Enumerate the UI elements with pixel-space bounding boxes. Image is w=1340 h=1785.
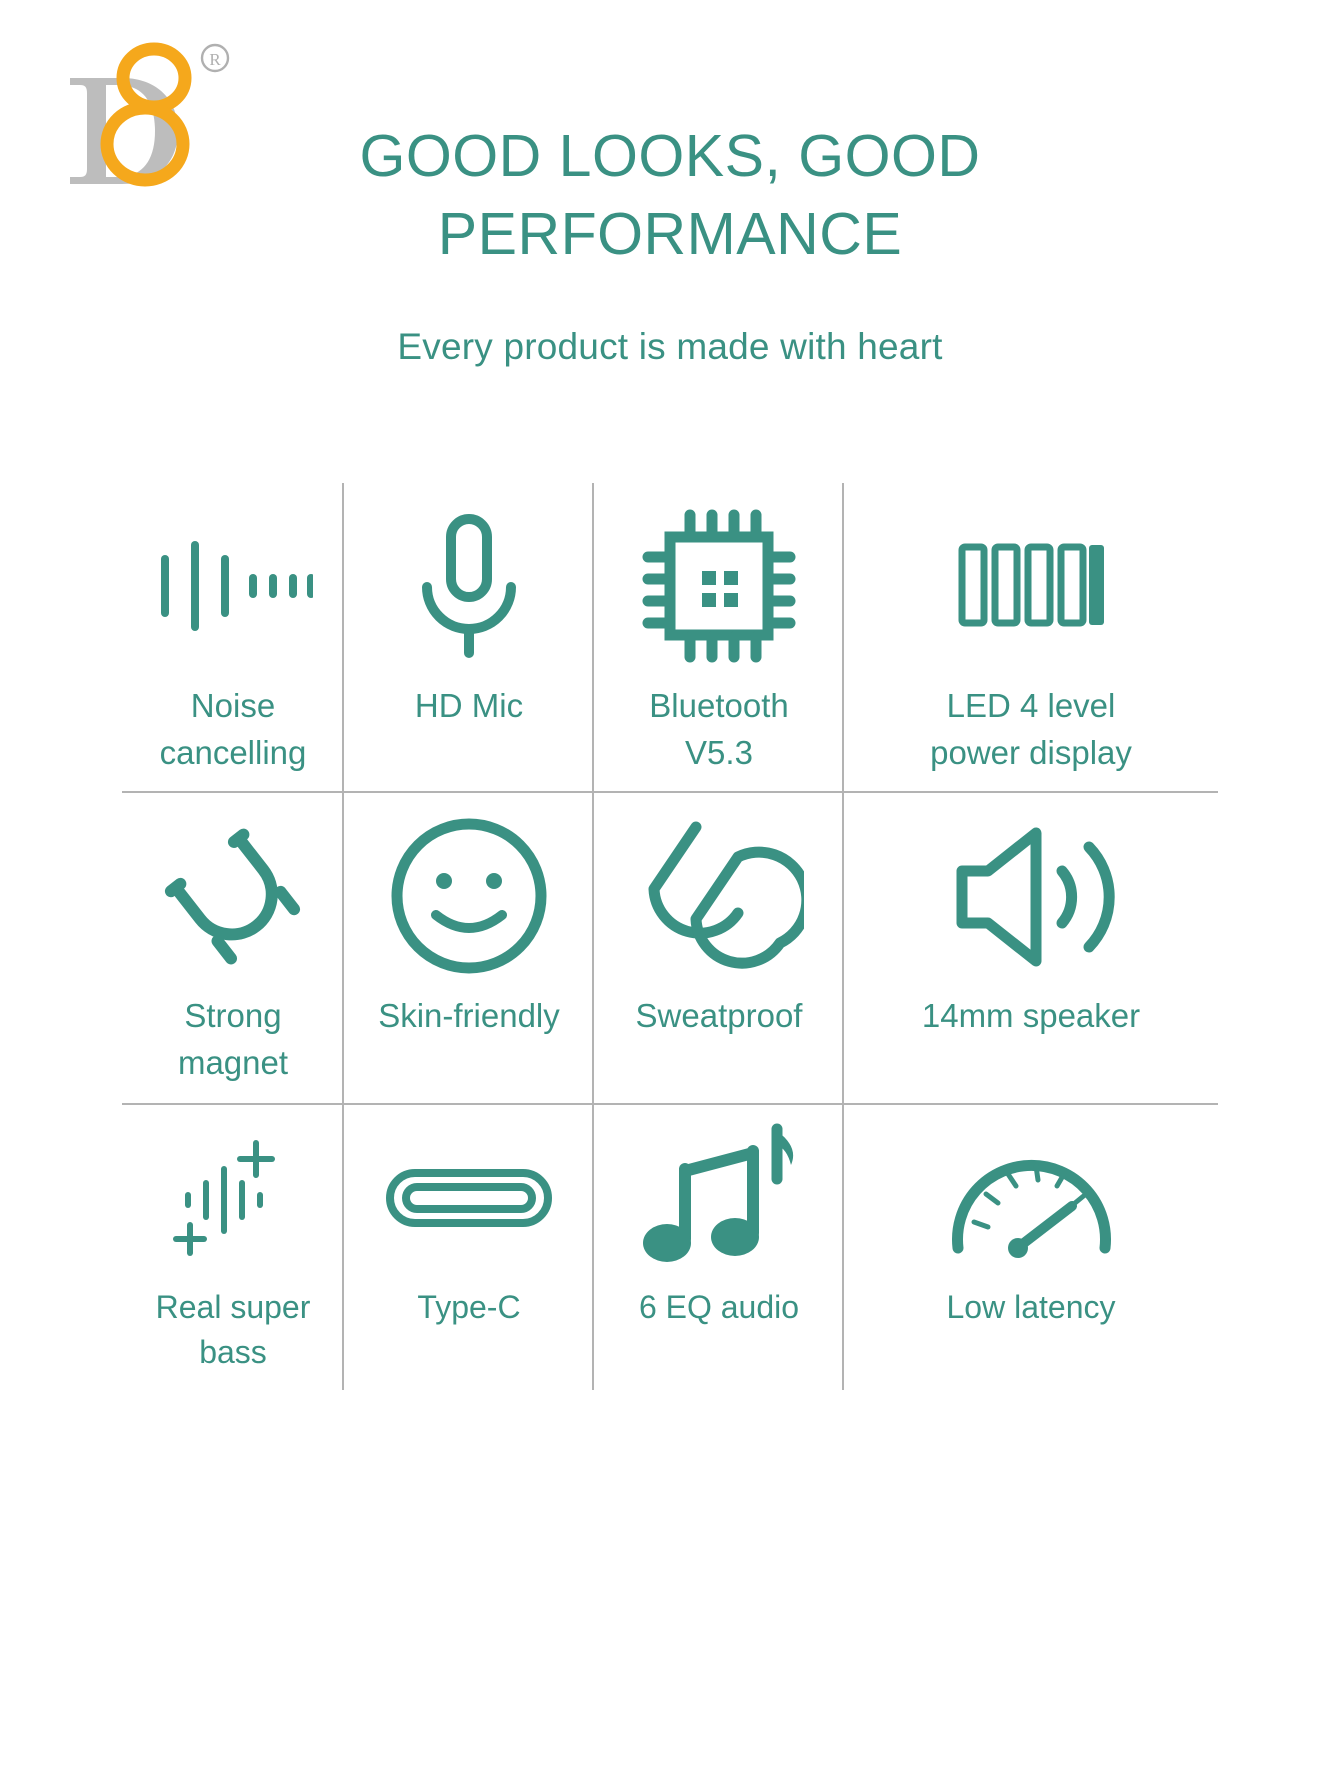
magnet-icon <box>163 801 303 991</box>
microphone-icon <box>409 491 529 681</box>
bass-boost-icon <box>168 1113 298 1283</box>
page-subtitle: Every product is made with heart <box>0 326 1340 368</box>
feature-cell-super-bass: Real super bass <box>122 1105 344 1390</box>
feature-cell-led-power: LED 4 level power display <box>844 483 1218 793</box>
feature-cell-bluetooth: Bluetooth V5.3 <box>594 483 844 793</box>
page-title: GOOD LOOKS, GOOD PERFORMANCE <box>300 118 1040 274</box>
page-header: GOOD LOOKS, GOOD PERFORMANCE Every produ… <box>0 118 1340 368</box>
feature-label: LED 4 level power display <box>930 683 1132 777</box>
feature-label: Type-C <box>417 1285 520 1330</box>
feature-cell-low-latency: Low latency <box>844 1105 1218 1390</box>
feature-label: 6 EQ audio <box>639 1285 799 1330</box>
feature-label: Low latency <box>947 1285 1116 1330</box>
water-drops-icon <box>634 801 804 991</box>
music-notes-icon <box>637 1113 802 1283</box>
feature-label: Noise cancelling <box>160 683 307 777</box>
feature-cell-type-c: Type-C <box>344 1105 594 1390</box>
page-title-line-1: GOOD LOOKS, GOOD <box>300 118 1040 196</box>
battery-led-bars-icon <box>956 491 1106 681</box>
chip-icon <box>634 491 804 681</box>
smiley-face-icon <box>384 801 554 991</box>
feature-cell-noise-cancelling: Noise cancelling <box>122 483 344 793</box>
feature-label: Sweatproof <box>636 993 803 1040</box>
page-title-line-2: PERFORMANCE <box>300 196 1040 274</box>
feature-label: Strong magnet <box>178 993 288 1087</box>
feature-grid: Noise cancelling HD Mic <box>122 483 1218 1390</box>
feature-cell-strong-magnet: Strong magnet <box>122 793 344 1105</box>
sound-wave-bars-icon <box>153 491 313 681</box>
feature-label: Real super bass <box>122 1285 344 1376</box>
feature-cell-hd-mic: HD Mic <box>344 483 594 793</box>
registered-trademark-icon: R <box>202 45 228 71</box>
feature-cell-speaker: 14mm speaker <box>844 793 1218 1105</box>
usb-type-c-port-icon <box>384 1113 554 1283</box>
feature-cell-sweatproof: Sweatproof <box>594 793 844 1105</box>
feature-label: Skin-friendly <box>378 993 560 1040</box>
speaker-volume-icon <box>944 801 1119 991</box>
feature-label: Bluetooth V5.3 <box>649 683 788 777</box>
feature-label: HD Mic <box>415 683 523 730</box>
feature-cell-eq-audio: 6 EQ audio <box>594 1105 844 1390</box>
feature-cell-skin-friendly: Skin-friendly <box>344 793 594 1105</box>
speedometer-icon <box>944 1113 1119 1283</box>
svg-text:R: R <box>209 50 221 69</box>
feature-label: 14mm speaker <box>922 993 1140 1040</box>
